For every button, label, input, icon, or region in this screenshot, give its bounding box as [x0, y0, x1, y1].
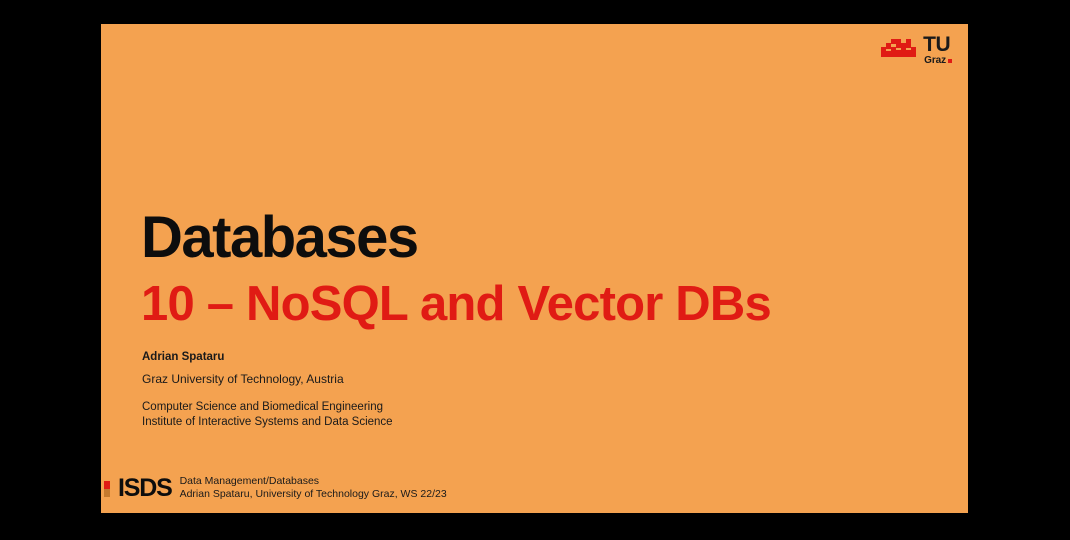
footer-text: Data Management/Databases Adrian Spataru…: [180, 475, 447, 502]
author-name: Adrian Spataru: [142, 350, 393, 366]
slide-footer: ISDS Data Management/Databases Adrian Sp…: [104, 475, 447, 502]
author-affiliation: Graz University of Technology, Austria: [142, 371, 393, 387]
page-title: Databases: [141, 208, 771, 269]
title-block: Databases 10 – NoSQL and Vector DBs: [141, 208, 771, 330]
footer-line-1: Data Management/Databases: [180, 475, 447, 489]
footer-line-2: Adrian Spataru, University of Technology…: [180, 488, 447, 502]
author-department-line-1: Computer Science and Biomedical Engineer…: [142, 400, 393, 415]
tu-graz-sub-text: Graz: [924, 56, 946, 66]
isds-wordmark: ISDS: [118, 476, 172, 501]
isds-logo: ISDS: [104, 476, 172, 501]
tu-graz-wordmark: TU Graz: [923, 34, 952, 66]
tu-graz-red-dot-icon: [948, 59, 952, 63]
isds-square-bottom-right: [110, 489, 116, 497]
tu-graz-main-text: TU: [923, 34, 950, 55]
presentation-slide: TU Graz Databases 10 – NoSQL and Vector …: [101, 24, 968, 513]
tu-graz-logo: TU Graz: [881, 34, 952, 66]
presentation-viewer-stage: TU Graz Databases 10 – NoSQL and Vector …: [0, 0, 1070, 540]
author-block: Adrian Spataru Graz University of Techno…: [142, 350, 393, 430]
page-subtitle: 10 – NoSQL and Vector DBs: [141, 279, 771, 330]
tu-graz-sub-row: Graz: [924, 56, 952, 66]
author-department: Computer Science and Biomedical Engineer…: [142, 400, 393, 430]
author-department-line-2: Institute of Interactive Systems and Dat…: [142, 415, 393, 430]
isds-square-mark-icon: [104, 481, 116, 497]
isds-square-top-right: [110, 481, 116, 489]
tu-graz-pixel-mark-icon: [881, 37, 921, 63]
